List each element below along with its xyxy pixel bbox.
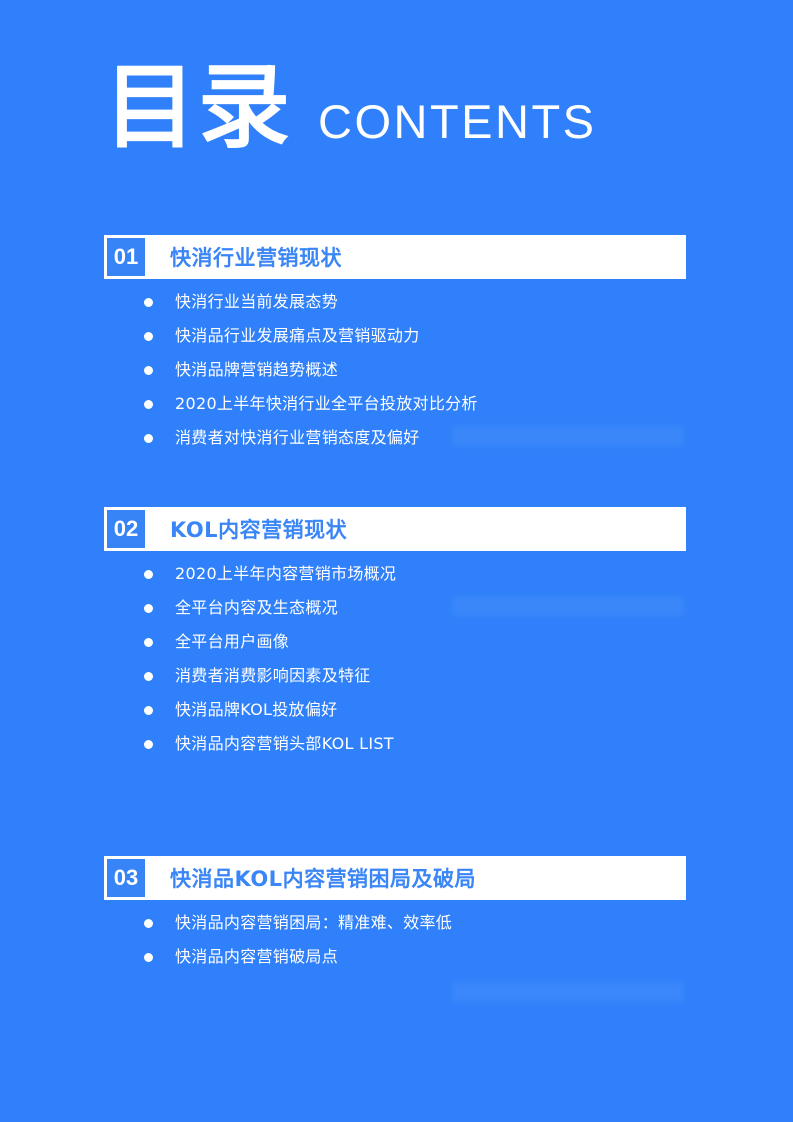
bullet-dot-icon	[144, 953, 153, 962]
list-item-label: 全平台用户画像	[175, 634, 289, 650]
bullet-dot-icon	[144, 366, 153, 375]
bullet-dot-icon	[144, 400, 153, 409]
list-item-label: 2020上半年内容营销市场概况	[175, 566, 396, 582]
list-item-label: 2020上半年快消行业全平台投放对比分析	[175, 396, 478, 412]
list-item[interactable]: 消费者对快消行业营销态度及偏好	[144, 421, 478, 455]
section-01-list: 快消行业当前发展态势 快消品行业发展痛点及营销驱动力 快消品牌营销趋势概述 20…	[144, 285, 478, 455]
list-item-label: 消费者消费影响因素及特征	[175, 668, 371, 684]
bullet-dot-icon	[144, 706, 153, 715]
list-item-label: 快消品牌KOL投放偏好	[175, 702, 337, 718]
bullet-dot-icon	[144, 332, 153, 341]
bullet-dot-icon	[144, 298, 153, 307]
list-item[interactable]: 全平台用户画像	[144, 625, 396, 659]
artifact-band-2	[452, 596, 684, 616]
list-item[interactable]: 快消品牌KOL投放偏好	[144, 693, 396, 727]
bullet-dot-icon	[144, 434, 153, 443]
list-item[interactable]: 快消品行业发展痛点及营销驱动力	[144, 319, 478, 353]
section-02-list: 2020上半年内容营销市场概况 全平台内容及生态概况 全平台用户画像 消费者消费…	[144, 557, 396, 761]
bullet-dot-icon	[144, 672, 153, 681]
page-title-en: CONTENTS	[318, 98, 597, 145]
bullet-dot-icon	[144, 740, 153, 749]
section-01-title: 快消行业营销现状	[170, 242, 342, 272]
section-03-header[interactable]: 03 快消品KOL内容营销困局及破局	[104, 856, 686, 900]
list-item-label: 快消品内容营销困局：精准难、效率低	[175, 915, 452, 931]
section-02-number: 02	[104, 507, 148, 551]
page-title-cn: 目录	[104, 62, 292, 154]
bullet-dot-icon	[144, 638, 153, 647]
section-02-header[interactable]: 02 KOL内容营销现状	[104, 507, 686, 551]
section-03: 03 快消品KOL内容营销困局及破局 快消品内容营销困局：精准难、效率低 快消品…	[104, 856, 686, 900]
section-02: 02 KOL内容营销现状 2020上半年内容营销市场概况 全平台内容及生态概况 …	[104, 507, 686, 551]
artifact-band-3	[452, 982, 684, 1002]
section-01: 01 快消行业营销现状 快消行业当前发展态势 快消品行业发展痛点及营销驱动力 快…	[104, 235, 686, 279]
slide-page: 目录 CONTENTS 01 快消行业营销现状 快消行业当前发展态势 快消品行业…	[0, 0, 793, 1122]
section-03-title: 快消品KOL内容营销困局及破局	[170, 863, 476, 893]
section-01-header[interactable]: 01 快消行业营销现状	[104, 235, 686, 279]
list-item-label: 快消品行业发展痛点及营销驱动力	[175, 328, 420, 344]
section-03-list: 快消品内容营销困局：精准难、效率低 快消品内容营销破局点	[144, 906, 452, 974]
list-item[interactable]: 快消品内容营销头部KOL LIST	[144, 727, 396, 761]
list-item[interactable]: 快消品内容营销破局点	[144, 940, 452, 974]
list-item[interactable]: 全平台内容及生态概况	[144, 591, 396, 625]
section-01-number: 01	[104, 235, 148, 279]
section-02-title: KOL内容营销现状	[170, 514, 347, 544]
list-item-label: 消费者对快消行业营销态度及偏好	[175, 430, 420, 446]
page-title: 目录 CONTENTS	[104, 62, 597, 154]
section-03-number: 03	[104, 856, 148, 900]
artifact-band-1	[452, 426, 684, 446]
list-item[interactable]: 2020上半年快消行业全平台投放对比分析	[144, 387, 478, 421]
list-item-label: 快消行业当前发展态势	[175, 294, 338, 310]
list-item[interactable]: 快消品牌营销趋势概述	[144, 353, 478, 387]
list-item-label: 快消品内容营销破局点	[175, 949, 338, 965]
list-item-label: 快消品内容营销头部KOL LIST	[175, 736, 394, 752]
bullet-dot-icon	[144, 604, 153, 613]
bullet-dot-icon	[144, 919, 153, 928]
list-item[interactable]: 快消品内容营销困局：精准难、效率低	[144, 906, 452, 940]
list-item-label: 全平台内容及生态概况	[175, 600, 338, 616]
list-item-label: 快消品牌营销趋势概述	[175, 362, 338, 378]
list-item[interactable]: 消费者消费影响因素及特征	[144, 659, 396, 693]
list-item[interactable]: 快消行业当前发展态势	[144, 285, 478, 319]
list-item[interactable]: 2020上半年内容营销市场概况	[144, 557, 396, 591]
bullet-dot-icon	[144, 570, 153, 579]
